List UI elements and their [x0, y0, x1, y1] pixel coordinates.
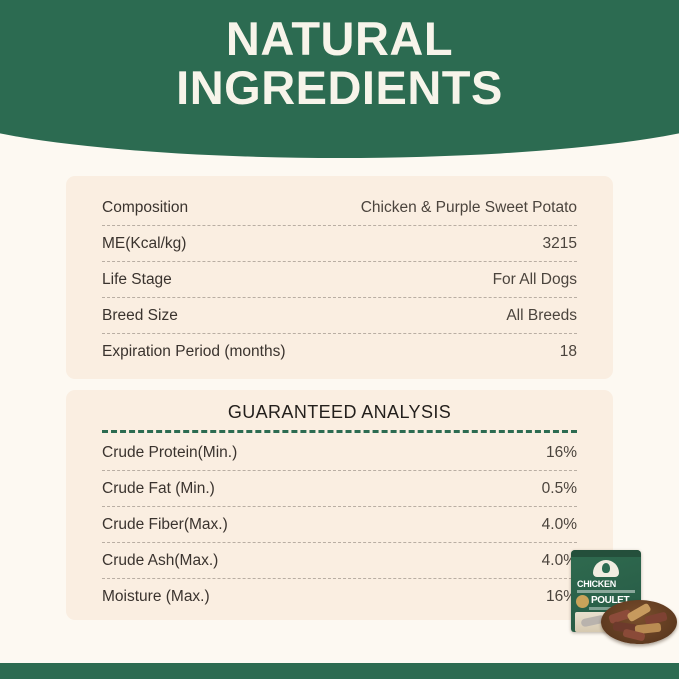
row-value: All Breeds — [506, 307, 577, 325]
row-label: Crude Ash(Max.) — [102, 552, 218, 570]
table-row: Crude Protein(Min.) 16% — [102, 435, 577, 471]
pouch-top-seal — [571, 550, 641, 557]
pouch-seal-badge-icon — [576, 595, 589, 608]
row-label: Crude Fat (Min.) — [102, 480, 215, 498]
guaranteed-analysis-card: GUARANTEED ANALYSIS Crude Protein(Min.) … — [66, 390, 613, 620]
table-row: Expiration Period (months) 18 — [102, 334, 577, 369]
row-value: For All Dogs — [493, 271, 577, 289]
page-header: NATURAL INGREDIENTS — [0, 0, 679, 158]
footer-bar — [0, 663, 679, 679]
row-label: Life Stage — [102, 271, 172, 289]
product-info-card: Composition Chicken & Purple Sweet Potat… — [66, 176, 613, 379]
row-value: 0.5% — [542, 480, 577, 498]
row-value: 18 — [560, 343, 577, 361]
table-row: Life Stage For All Dogs — [102, 262, 577, 298]
table-row: Breed Size All Breeds — [102, 298, 577, 334]
page-title-line-1: NATURAL — [0, 14, 679, 63]
row-label: Moisture (Max.) — [102, 588, 210, 606]
pouch-subtext-english — [577, 590, 635, 593]
analysis-divider — [102, 430, 577, 433]
page-title: NATURAL INGREDIENTS — [0, 14, 679, 113]
row-label: Crude Protein(Min.) — [102, 444, 237, 462]
row-label: Breed Size — [102, 307, 178, 325]
row-label: Expiration Period (months) — [102, 343, 286, 361]
table-row: Crude Fat (Min.) 0.5% — [102, 471, 577, 507]
product-package-image: CHICKEN POULET — [559, 548, 679, 648]
wooden-plate — [601, 600, 677, 644]
table-row: Crude Ash(Max.) 4.0% — [102, 543, 577, 579]
row-label: Crude Fiber(Max.) — [102, 516, 228, 534]
pouch-label-english: CHICKEN — [577, 580, 635, 589]
table-row: ME(Kcal/kg) 3215 — [102, 226, 577, 262]
row-label: ME(Kcal/kg) — [102, 235, 186, 253]
row-label: Composition — [102, 199, 188, 217]
table-row: Crude Fiber(Max.) 4.0% — [102, 507, 577, 543]
row-value: 3215 — [543, 235, 577, 253]
page-title-line-2: INGREDIENTS — [0, 63, 679, 112]
row-value: 4.0% — [542, 516, 577, 534]
row-value: Chicken & Purple Sweet Potato — [361, 199, 577, 217]
row-value: 16% — [546, 444, 577, 462]
analysis-heading: GUARANTEED ANALYSIS — [102, 402, 577, 430]
table-row: Moisture (Max.) 16% — [102, 579, 577, 614]
table-row: Composition Chicken & Purple Sweet Potat… — [102, 190, 577, 226]
brand-logo-icon — [593, 560, 619, 577]
